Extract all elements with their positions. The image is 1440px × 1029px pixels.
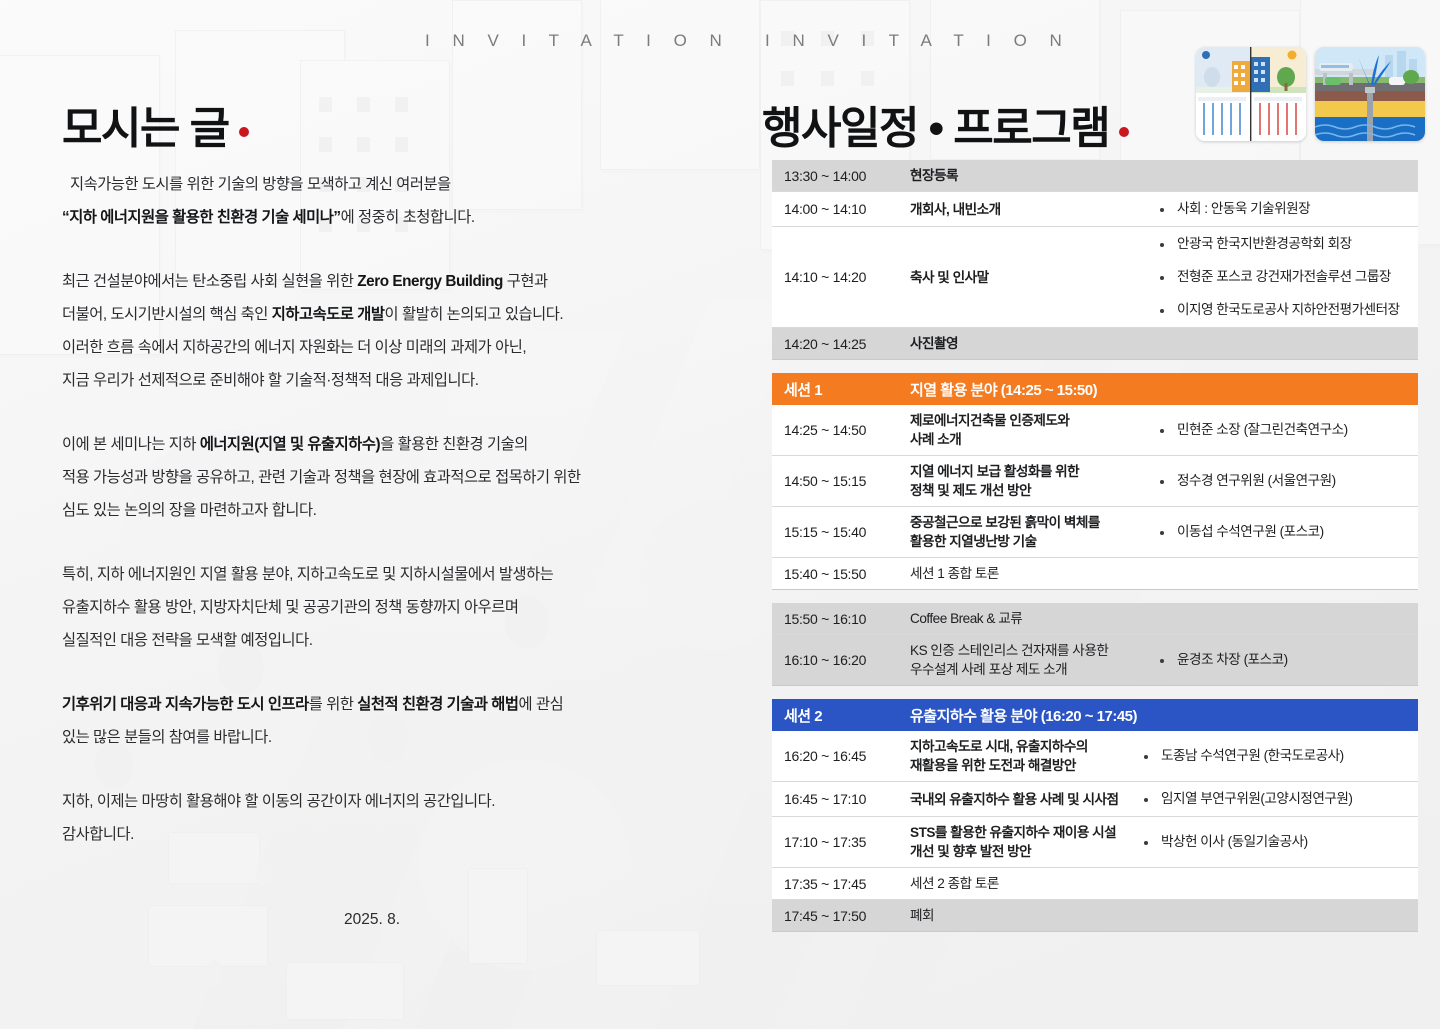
- row-time: 14:10 ~ 14:20: [772, 227, 910, 327]
- letter-seg-bold: 지하고속도로 개발: [272, 306, 385, 323]
- table-row: 14:00 ~ 14:10개회사, 내빈소개사회 : 안동욱 기술위원장: [772, 192, 1418, 227]
- bullet-icon: [1160, 243, 1164, 247]
- speaker-name: 사회 : 안동욱 기술위원장: [1177, 198, 1310, 220]
- letter-seg: 구현과: [503, 273, 548, 290]
- bullet-icon: [1160, 531, 1164, 535]
- table-row: 16:20 ~ 16:45지하고속도로 시대, 유출지하수의재활용을 위한 도전…: [772, 731, 1418, 782]
- bullet-icon: [1144, 798, 1148, 802]
- schedule-table: 13:30 ~ 14:00현장등록14:00 ~ 14:10개회사, 내빈소개사…: [772, 160, 1418, 932]
- speaker-name: 이지영 한국도로공사 지하안전평가센터장: [1177, 299, 1400, 321]
- page-title-right-text: 행사일정 • 프로그램: [762, 104, 1109, 153]
- speaker-entry: 이지영 한국도로공사 지하안전평가센터장: [1160, 299, 1410, 321]
- speaker-entry: 민현준 소장 (잘그린건축연구소): [1160, 419, 1410, 441]
- row-time: 17:45 ~ 17:50: [772, 900, 910, 931]
- letter-line: 실질적인 대응 전략을 모색할 예정입니다.: [62, 624, 682, 657]
- speaker-name: 이동섭 수석연구원 (포스코): [1177, 521, 1324, 543]
- red-dot-icon: [1119, 127, 1129, 137]
- speaker-name: 윤경조 차장 (포스코): [1177, 649, 1288, 671]
- row-title: STS를 활용한 유출지하수 재이용 시설개선 및 향후 발전 방안: [910, 817, 1140, 867]
- session-title: 유출지하수 활용 분야 (16:20 ~ 17:45): [910, 705, 1418, 726]
- table-row: 17:45 ~ 17:50폐회: [772, 900, 1418, 932]
- letter-seg-bold: 에너지원(지열 및 유출지하수): [200, 436, 380, 453]
- row-time: 14:20 ~ 14:25: [772, 328, 910, 359]
- letter-seg: 를 위한: [309, 696, 357, 713]
- speaker-entry: 임지열 부연구위원(고양시정연구원): [1144, 788, 1410, 810]
- row-time: 14:50 ~ 15:15: [772, 456, 910, 506]
- row-title: 중공철근으로 보강된 흙막이 벽체를활용한 지열냉난방 기술: [910, 507, 1156, 557]
- row-title: 지열 에너지 보급 활성화를 위한정책 및 제도 개선 방안: [910, 456, 1156, 506]
- speaker-name: 안광국 한국지반환경공학회 회장: [1177, 233, 1352, 255]
- bullet-icon: [1144, 841, 1148, 845]
- letter-seg: 이에 본 세미나는 지하: [62, 436, 200, 453]
- table-row: 16:45 ~ 17:10국내외 유출지하수 활용 사례 및 시사점임지열 부연…: [772, 782, 1418, 817]
- session1-banner: 세션 1지열 활용 분야 (14:25 ~ 15:50): [772, 373, 1418, 405]
- speaker-name: 전형준 포스코 강건재가전솔루션 그룹장: [1177, 266, 1391, 288]
- speaker-name: 도종남 수석연구원 (한국도로공사): [1161, 745, 1344, 767]
- row-title: 세션 2 종합 토론: [910, 868, 1418, 899]
- row-speakers: 이동섭 수석연구원 (포스코): [1156, 507, 1418, 557]
- row-speakers: 도종남 수석연구원 (한국도로공사): [1140, 731, 1418, 781]
- letter-line: 지하, 이제는 마땅히 활용해야 할 이동의 공간이자 에너지의 공간입니다.: [62, 785, 682, 818]
- schedule-group-breaks: 15:50 ~ 16:10Coffee Break & 교류16:10 ~ 16…: [772, 603, 1418, 686]
- row-time: 15:40 ~ 15:50: [772, 558, 910, 589]
- schedule-group-session1: 세션 1지열 활용 분야 (14:25 ~ 15:50)14:25 ~ 14:5…: [772, 373, 1418, 590]
- row-speakers: 사회 : 안동욱 기술위원장: [1156, 192, 1418, 226]
- page-title-right: 행사일정 • 프로그램: [762, 92, 1129, 156]
- session-label: 세션 2: [772, 705, 910, 726]
- red-dot-icon: [239, 127, 249, 137]
- letter-signature-date: 2025. 8.: [62, 903, 682, 936]
- bullet-icon: [1160, 276, 1164, 280]
- speaker-entry: 전형준 포스코 강건재가전솔루션 그룹장: [1160, 266, 1410, 288]
- row-time: 14:25 ~ 14:50: [772, 405, 910, 455]
- session-label: 세션 1: [772, 379, 910, 400]
- row-title: 세션 1 종합 토론: [910, 558, 1418, 589]
- speaker-entry: 안광국 한국지반환경공학회 회장: [1160, 233, 1410, 255]
- row-speakers: 임지열 부연구위원(고양시정연구원): [1140, 782, 1418, 816]
- invitation-page: I N V I T A T I O N I N V I T A T I O N …: [0, 0, 1440, 1029]
- bullet-icon: [1160, 659, 1164, 663]
- bullet-icon: [1160, 208, 1164, 212]
- letter-line: 감사합니다.: [62, 818, 682, 851]
- invitation-letter-body: 지속가능한 도시를 위한 기술의 방향을 모색하고 계신 여러분을 “지하 에너…: [62, 168, 682, 936]
- table-row: 17:35 ~ 17:45세션 2 종합 토론: [772, 868, 1418, 900]
- row-title: 국내외 유출지하수 활용 사례 및 시사점: [910, 782, 1140, 816]
- row-speakers: 민현준 소장 (잘그린건축연구소): [1156, 405, 1418, 455]
- letter-line-invite: “지하 에너지원을 활용한 친환경 기술 세미나”에 정중히 초청합니다.: [62, 201, 682, 234]
- speaker-name: 민현준 소장 (잘그린건축연구소): [1177, 419, 1348, 441]
- row-time: 17:10 ~ 17:35: [772, 817, 910, 867]
- row-time: 14:00 ~ 14:10: [772, 192, 910, 226]
- session2-banner: 세션 2유출지하수 활용 분야 (16:20 ~ 17:45): [772, 699, 1418, 731]
- letter-seg: 에 관심: [519, 696, 564, 713]
- letter-line: 유출지하수 활용 방안, 지방자치단체 및 공공기관의 정책 동향까지 아우르며: [62, 591, 682, 624]
- seminar-title-quoted: “지하 에너지원을 활용한 친환경 기술 세미나”: [62, 209, 341, 226]
- table-row: 14:25 ~ 14:50제로에너지건축물 인증제도와사례 소개민현준 소장 (…: [772, 405, 1418, 456]
- schedule-group-opening: 13:30 ~ 14:00현장등록14:00 ~ 14:10개회사, 내빈소개사…: [772, 160, 1418, 360]
- speaker-entry: 도종남 수석연구원 (한국도로공사): [1144, 745, 1410, 767]
- row-title: 개회사, 내빈소개: [910, 192, 1156, 226]
- table-row: 14:20 ~ 14:25사진촬영: [772, 328, 1418, 360]
- speaker-name: 정수경 연구위원 (서울연구원): [1177, 470, 1336, 492]
- row-time: 13:30 ~ 14:00: [772, 160, 910, 191]
- schedule-group-session2: 세션 2유출지하수 활용 분야 (16:20 ~ 17:45)16:20 ~ 1…: [772, 699, 1418, 932]
- speaker-entry: 박상헌 이사 (동일기술공사): [1144, 831, 1410, 853]
- table-row: 14:50 ~ 15:15지열 에너지 보급 활성화를 위한정책 및 제도 개선…: [772, 456, 1418, 507]
- table-row: 14:10 ~ 14:20축사 및 인사말안광국 한국지반환경공학회 회장전형준…: [772, 227, 1418, 328]
- letter-line: 기후위기 대응과 지속가능한 도시 인프라를 위한 실천적 친환경 기술과 해법…: [62, 688, 682, 721]
- letter-seg-bold: 기후위기 대응과 지속가능한 도시 인프라: [62, 696, 309, 713]
- bullet-icon: [1144, 755, 1148, 759]
- bullet-icon: [1160, 309, 1164, 313]
- eyebrow-invitation-left: I N V I T A T I O N: [425, 31, 731, 51]
- table-row: 15:50 ~ 16:10Coffee Break & 교류: [772, 603, 1418, 635]
- row-title: 사진촬영: [910, 328, 1418, 359]
- row-speakers: 안광국 한국지반환경공학회 회장전형준 포스코 강건재가전솔루션 그룹장이지영 …: [1156, 227, 1418, 327]
- letter-line: 적용 가능성과 방향을 공유하고, 관련 기술과 정책을 현장에 효과적으로 접…: [62, 461, 682, 494]
- row-title: 축사 및 인사말: [910, 227, 1156, 327]
- geothermal-building-illustration: [1196, 47, 1306, 141]
- row-title: 지하고속도로 시대, 유출지하수의재활용을 위한 도전과 해결방안: [910, 731, 1140, 781]
- row-title: KS 인증 스테인리스 건자재를 사용한우수설계 사례 포상 제도 소개: [910, 635, 1156, 685]
- speaker-entry: 정수경 연구위원 (서울연구원): [1160, 470, 1410, 492]
- row-speakers: 윤경조 차장 (포스코): [1156, 635, 1418, 685]
- table-row: 13:30 ~ 14:00현장등록: [772, 160, 1418, 192]
- letter-line: 이에 본 세미나는 지하 에너지원(지열 및 유출지하수)을 활용한 친환경 기…: [62, 428, 682, 461]
- illustration-thumbnails: [1196, 47, 1425, 141]
- row-speakers: 박상헌 이사 (동일기술공사): [1140, 817, 1418, 867]
- page-title-left-text: 모시는 글: [62, 104, 229, 153]
- groundwater-highway-illustration: [1315, 47, 1425, 141]
- letter-line: 지속가능한 도시를 위한 기술의 방향을 모색하고 계신 여러분을: [62, 168, 682, 201]
- speaker-entry: 사회 : 안동욱 기술위원장: [1160, 198, 1410, 220]
- row-title: 현장등록: [910, 160, 1418, 191]
- speaker-name: 임지열 부연구위원(고양시정연구원): [1161, 788, 1352, 810]
- table-row: 15:15 ~ 15:40중공철근으로 보강된 흙막이 벽체를활용한 지열냉난방…: [772, 507, 1418, 558]
- row-title: 폐회: [910, 900, 1418, 931]
- letter-line: 이러한 흐름 속에서 지하공간의 에너지 자원화는 더 이상 미래의 과제가 아…: [62, 331, 682, 364]
- letter-line: 지금 우리가 선제적으로 준비해야 할 기술적·정책적 대응 과제입니다.: [62, 364, 682, 397]
- letter-line: 최근 건설분야에서는 탄소중립 사회 실현을 위한 Zero Energy Bu…: [62, 265, 682, 298]
- letter-line: 특히, 지하 에너지원인 지열 활용 분야, 지하고속도로 및 지하시설물에서 …: [62, 558, 682, 591]
- row-time: 16:20 ~ 16:45: [772, 731, 910, 781]
- letter-seg-bold: 실천적 친환경 기술과 해법: [357, 696, 518, 713]
- speaker-entry: 윤경조 차장 (포스코): [1160, 649, 1410, 671]
- row-title: Coffee Break & 교류: [910, 603, 1418, 634]
- letter-line: 있는 많은 분들의 참여를 바랍니다.: [62, 721, 682, 754]
- row-time: 15:50 ~ 16:10: [772, 603, 910, 634]
- letter-seg-bold: Zero Energy Building: [357, 273, 503, 290]
- eyebrow-invitation-right: I N V I T A T I O N: [765, 31, 1071, 51]
- table-row: 17:10 ~ 17:35STS를 활용한 유출지하수 재이용 시설개선 및 향…: [772, 817, 1418, 868]
- letter-seg: 더불어, 도시기반시설의 핵심 축인: [62, 306, 272, 323]
- letter-line: 심도 있는 논의의 장을 마련하고자 합니다.: [62, 494, 682, 527]
- row-time: 15:15 ~ 15:40: [772, 507, 910, 557]
- row-time: 16:10 ~ 16:20: [772, 635, 910, 685]
- table-row: 16:10 ~ 16:20KS 인증 스테인리스 건자재를 사용한우수설계 사례…: [772, 635, 1418, 686]
- session-title: 지열 활용 분야 (14:25 ~ 15:50): [910, 379, 1418, 400]
- speaker-name: 박상헌 이사 (동일기술공사): [1161, 831, 1308, 853]
- letter-seg: 이 활발히 논의되고 있습니다.: [385, 306, 564, 323]
- row-title: 제로에너지건축물 인증제도와사례 소개: [910, 405, 1156, 455]
- page-title-left: 모시는 글: [62, 92, 249, 156]
- speaker-entry: 이동섭 수석연구원 (포스코): [1160, 521, 1410, 543]
- letter-line-invite-rest: 에 정중히 초청합니다.: [341, 209, 475, 226]
- letter-seg: 을 활용한 친환경 기술의: [380, 436, 528, 453]
- bullet-icon: [1160, 429, 1164, 433]
- table-row: 15:40 ~ 15:50세션 1 종합 토론: [772, 558, 1418, 590]
- letter-seg: 최근 건설분야에서는 탄소중립 사회 실현을 위한: [62, 273, 357, 290]
- row-time: 17:35 ~ 17:45: [772, 868, 910, 899]
- row-time: 16:45 ~ 17:10: [772, 782, 910, 816]
- row-speakers: 정수경 연구위원 (서울연구원): [1156, 456, 1418, 506]
- bullet-icon: [1160, 480, 1164, 484]
- letter-line: 더불어, 도시기반시설의 핵심 축인 지하고속도로 개발이 활발히 논의되고 있…: [62, 298, 682, 331]
